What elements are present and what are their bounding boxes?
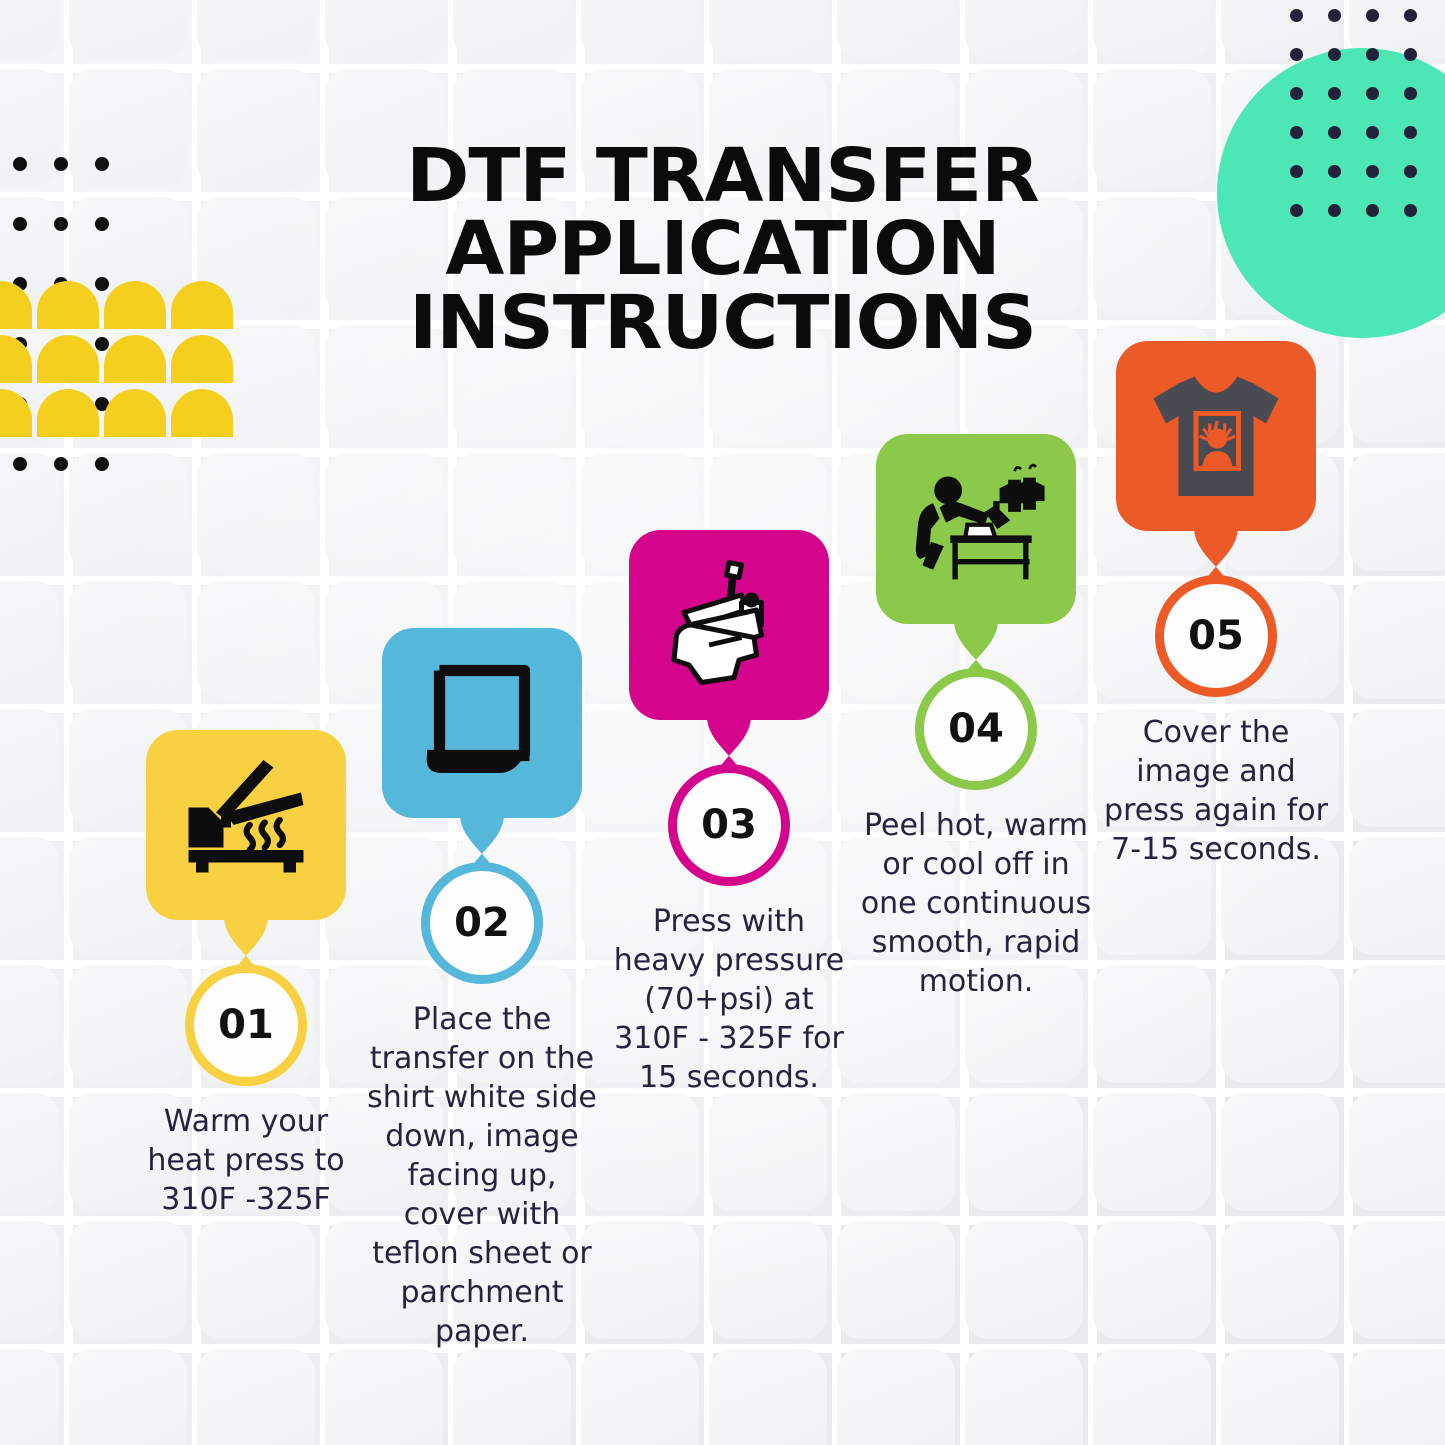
step-04: 04 Peel hot, warm or cool off in one con… (860, 434, 1092, 1001)
step-02-badge: 02 (421, 862, 543, 984)
step-02-description: Place the transfer on the shirt white si… (366, 1000, 598, 1351)
step-03-badge: 03 (668, 764, 790, 886)
heat-press-open-icon (171, 750, 321, 900)
step-03: 03 Press with heavy pressure (70+psi) at… (613, 530, 845, 1097)
step-02-number: 02 (454, 900, 510, 946)
heat-press-machine-icon (654, 550, 804, 700)
transfer-sheet-icon (407, 648, 557, 798)
step-01: 01 Warm your heat press to 310F -325F (130, 730, 362, 1219)
step-02: 02 Place the transfer on the shirt white… (366, 628, 598, 1351)
step-04-description: Peel hot, warm or cool off in one contin… (860, 806, 1092, 1001)
step-05: 05 Cover the image and press again for 7… (1100, 341, 1332, 869)
infographic-canvas: DTF TRANSFER APPLICATION INSTRUCTIONS (0, 0, 1445, 1445)
step-05-description: Cover the image and press again for 7-15… (1100, 713, 1332, 869)
step-04-number: 04 (948, 706, 1004, 752)
step-04-icon-card (876, 434, 1076, 624)
step-01-badge: 01 (185, 964, 307, 1086)
step-05-badge: 05 (1155, 575, 1277, 697)
worker-peeling-transfer-icon (901, 454, 1051, 604)
step-01-icon-card (146, 730, 346, 920)
step-04-badge: 04 (915, 668, 1037, 790)
printed-tshirt-icon (1141, 361, 1291, 511)
step-01-description: Warm your heat press to 310F -325F (130, 1102, 362, 1219)
step-03-icon-card (629, 530, 829, 720)
step-05-icon-card (1116, 341, 1316, 531)
step-03-description: Press with heavy pressure (70+psi) at 31… (613, 902, 845, 1097)
step-05-number: 05 (1188, 613, 1244, 659)
step-01-number: 01 (218, 1002, 274, 1048)
step-02-icon-card (382, 628, 582, 818)
steps-container: 01 Warm your heat press to 310F -325F 02… (0, 0, 1445, 1445)
step-03-number: 03 (701, 802, 757, 848)
